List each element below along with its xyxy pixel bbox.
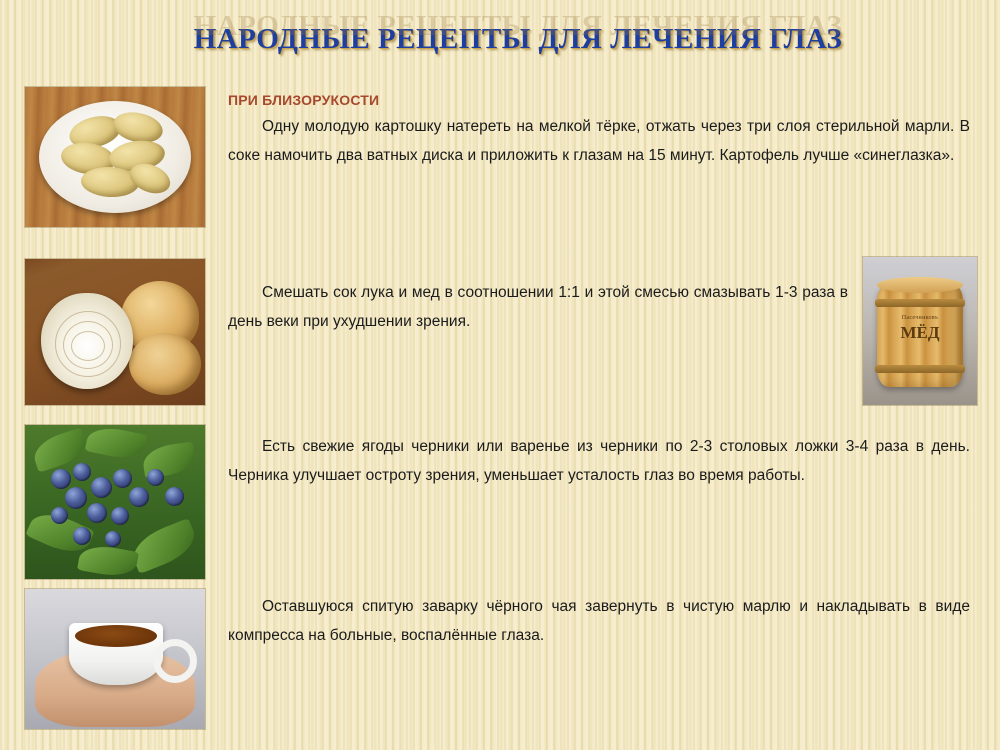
barrel-hoop-shape: [875, 365, 965, 373]
recipe-paragraph-potato: Одну молодую картошку натереть на мелкой…: [228, 112, 970, 170]
blueberry-shape: [51, 469, 71, 489]
blueberry-shape: [65, 487, 87, 509]
blueberry-shape: [111, 507, 129, 525]
blueberry-shape: [87, 503, 107, 523]
onions-photo: [24, 258, 206, 406]
tea-cup-photo: [24, 588, 206, 730]
blueberry-shape: [73, 463, 91, 481]
barrel-word-text: МЁД: [889, 323, 951, 343]
blueberry-shape: [165, 487, 184, 506]
barrel-brand-text: Пасечниковъ: [889, 315, 951, 321]
blueberry-shape: [113, 469, 132, 488]
barrel-lid-shape: [877, 277, 963, 293]
title-shadow-ghost: НАРОДНЫЕ РЕЦЕПТЫ ДЛЯ ЛЕЧЕНИЯ ГЛАЗ: [168, 10, 868, 43]
recipe-paragraph-onion-honey: Смешать сок лука и мед в соотношении 1:1…: [228, 278, 848, 336]
potatoes-on-plate-photo: [24, 86, 206, 228]
page-title: НАРОДНЫЕ РЕЦЕПТЫ ДЛЯ ЛЕЧЕНИЯ ГЛАЗ НАРОДН…: [168, 22, 868, 82]
blueberry-shape: [73, 527, 91, 545]
blueberry-shape: [105, 531, 121, 547]
recipe-paragraph-tea: Оставшуюся спитую заварку чёрного чая за…: [228, 592, 970, 650]
whole-onion-shape: [129, 333, 201, 395]
blueberry-shape: [91, 477, 112, 498]
blueberries-photo: [24, 424, 206, 580]
barrel-label: Пасечниковъ МЁД: [889, 315, 951, 343]
section-subhead-myopia: ПРИ БЛИЗОРУКОСТИ: [228, 92, 379, 108]
barrel-hoop-shape: [875, 299, 965, 307]
tea-liquid-shape: [75, 625, 157, 647]
blueberry-shape: [129, 487, 149, 507]
blueberry-shape: [51, 507, 68, 524]
honey-barrel-photo: Пасечниковъ МЁД: [862, 256, 978, 406]
blueberry-shape: [147, 469, 164, 486]
onion-ring-shape: [71, 331, 105, 361]
slide-canvas: НАРОДНЫЕ РЕЦЕПТЫ ДЛЯ ЛЕЧЕНИЯ ГЛАЗ НАРОДН…: [0, 0, 1000, 750]
cup-handle-shape: [153, 639, 197, 683]
recipe-paragraph-blueberry: Есть свежие ягоды черники или варенье из…: [228, 432, 970, 490]
